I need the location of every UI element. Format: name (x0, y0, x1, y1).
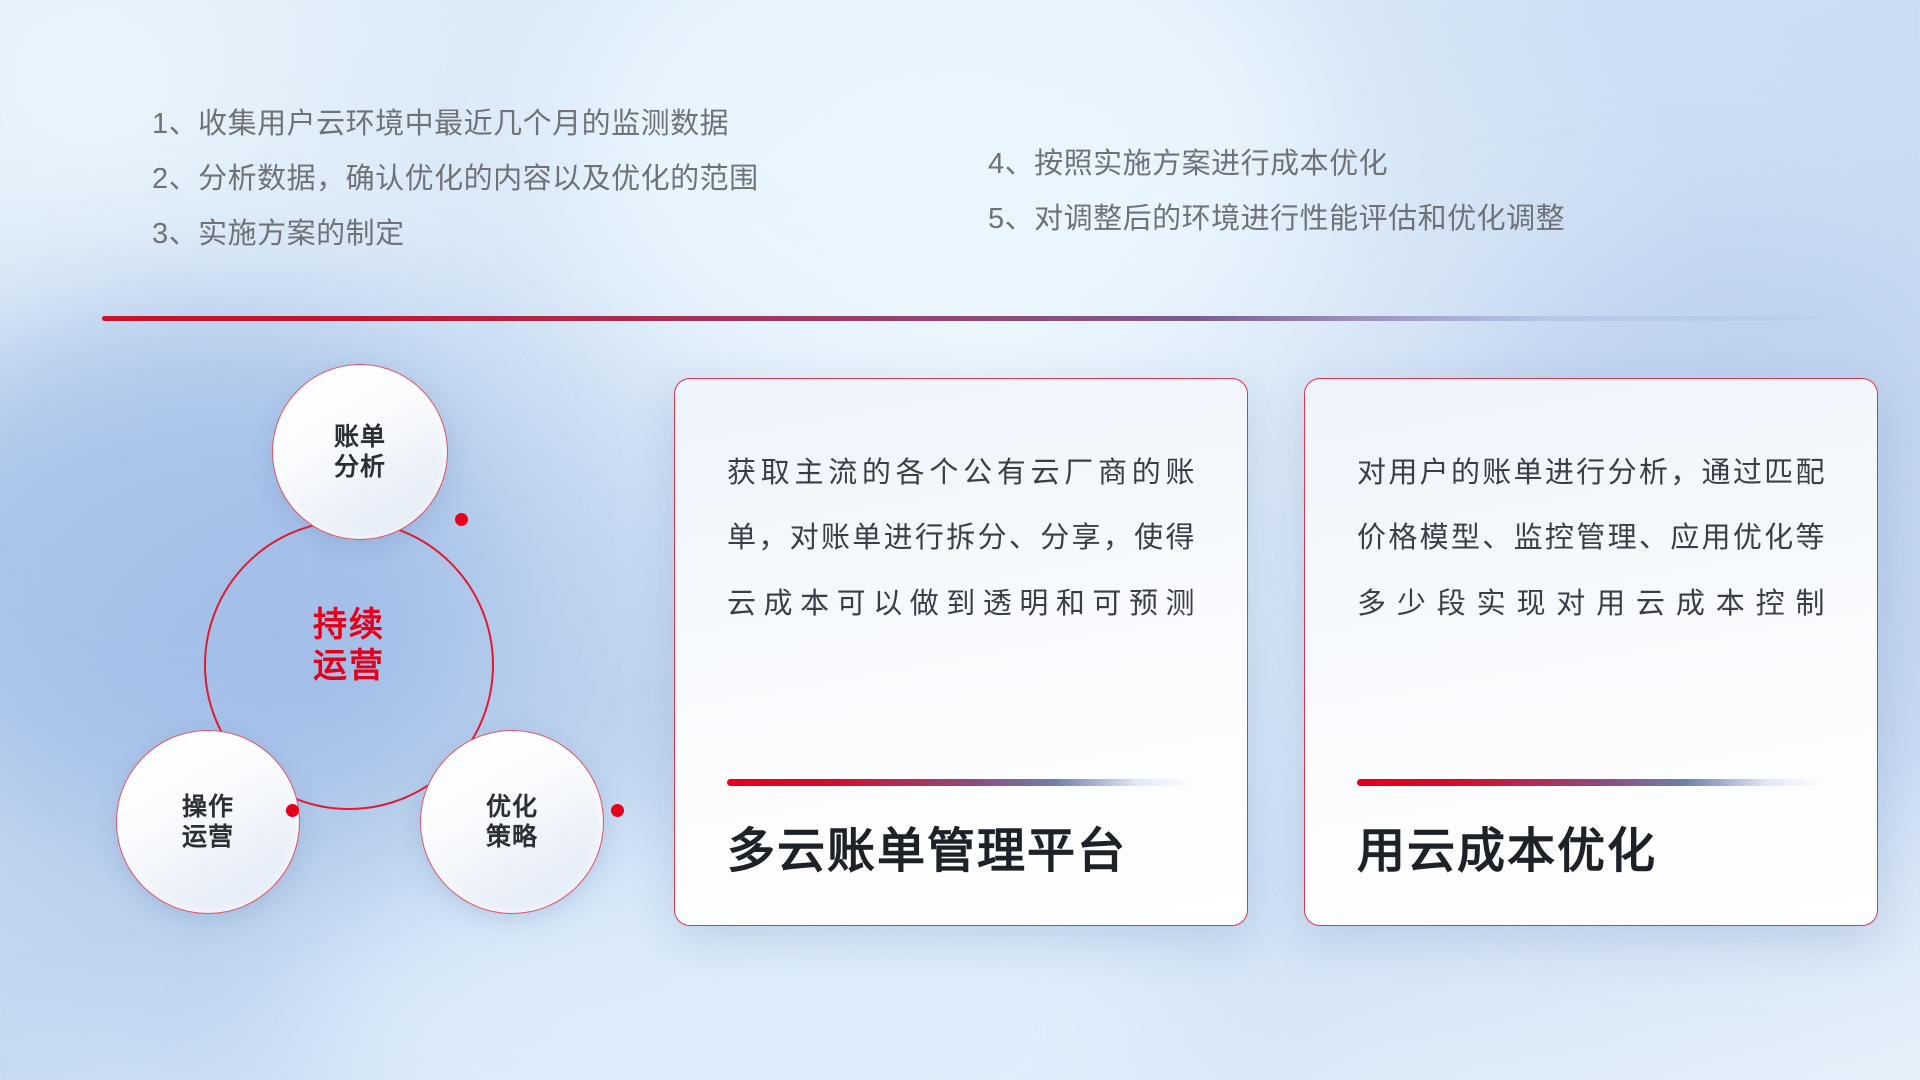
diagram-bubble-bill-analysis[interactable]: 账单 分析 (272, 364, 448, 540)
section-divider (102, 316, 1872, 321)
diagram-node-top-icon (455, 513, 468, 526)
diagram-node-right-icon (611, 804, 624, 817)
bubble-label-line1: 优化 (486, 792, 538, 823)
steps-list: 1、收集用户云环境中最近几个月的监测数据 2、分析数据，确认优化的内容以及优化的… (0, 110, 1920, 310)
diagram-node-left-icon (286, 804, 299, 817)
card-accent-rule (1357, 779, 1825, 786)
card-multicloud-billing[interactable]: 获取主流的各个公有云厂商的账单，对账单进行拆分、分享，使得云成本可以做到透明和可… (674, 378, 1248, 926)
center-label-line1: 持续 (204, 605, 494, 646)
card-cloud-cost-optimization[interactable]: 对用户的账单进行分析，通过匹配价格模型、监控管理、应用优化等多少段实现对用云成本… (1304, 378, 1878, 926)
step-item-1: 1、收集用户云环境中最近几个月的监测数据 (152, 110, 759, 139)
venn-diagram: 账单 分析 操作 运营 优化 策略 持续 运营 (96, 350, 656, 950)
card-accent-rule (727, 779, 1195, 786)
step-item-2: 2、分析数据，确认优化的内容以及优化的范围 (152, 165, 759, 194)
diagram-bubble-optimization-strategy[interactable]: 优化 策略 (420, 730, 604, 914)
card-title: 多云账单管理平台 (727, 826, 1195, 879)
step-item-5: 5、对调整后的环境进行性能评估和优化调整 (988, 205, 1565, 234)
step-item-3: 3、实施方案的制定 (152, 220, 759, 249)
steps-left-column: 1、收集用户云环境中最近几个月的监测数据 2、分析数据，确认优化的内容以及优化的… (152, 110, 759, 275)
card-body-text: 对用户的账单进行分析，通过匹配价格模型、监控管理、应用优化等多少段实现对用云成本… (1357, 441, 1825, 637)
card-title: 用云成本优化 (1357, 826, 1825, 879)
bubble-label-line1: 账单 (334, 422, 386, 453)
step-item-4: 4、按照实施方案进行成本优化 (988, 150, 1565, 179)
bubble-label-line1: 操作 (182, 792, 234, 823)
steps-right-column: 4、按照实施方案进行成本优化 5、对调整后的环境进行性能评估和优化调整 (988, 150, 1565, 260)
diagram-bubble-operations[interactable]: 操作 运营 (116, 730, 300, 914)
feature-cards: 获取主流的各个公有云厂商的账单，对账单进行拆分、分享，使得云成本可以做到透明和可… (674, 378, 1878, 926)
bubble-label-line2: 运营 (182, 822, 234, 853)
bubble-label-line2: 分析 (334, 452, 386, 483)
card-body-text: 获取主流的各个公有云厂商的账单，对账单进行拆分、分享，使得云成本可以做到透明和可… (727, 441, 1195, 637)
diagram-center-label: 持续 运营 (204, 605, 494, 688)
center-label-line2: 运营 (204, 646, 494, 687)
bubble-label-line2: 策略 (486, 822, 538, 853)
